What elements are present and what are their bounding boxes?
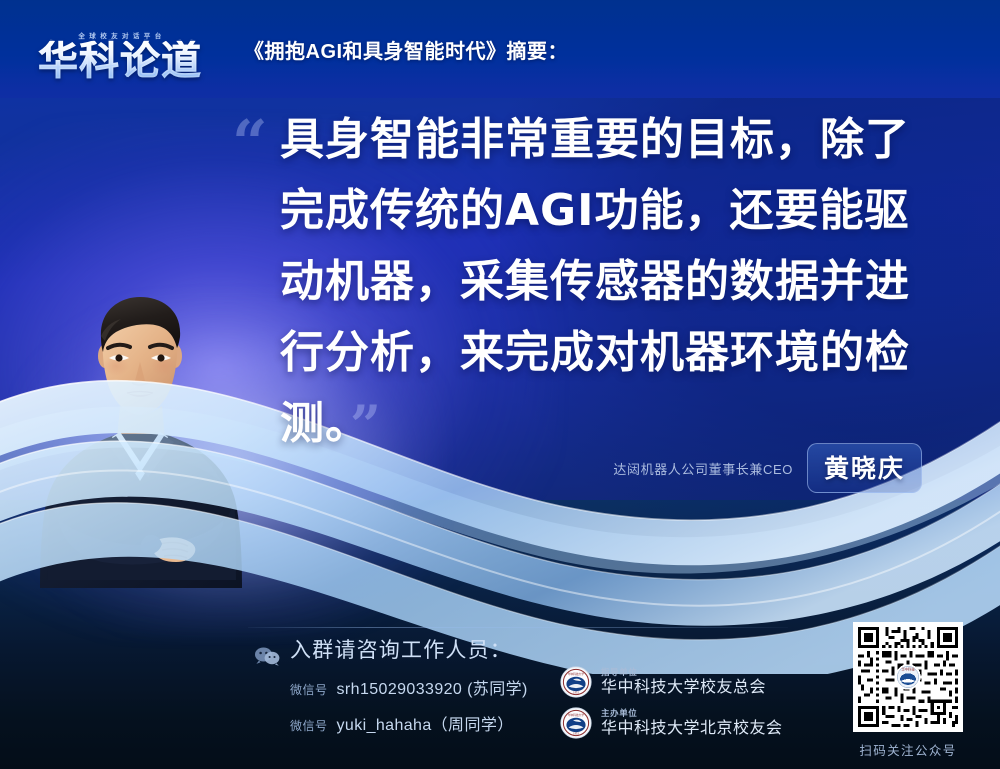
svg-text:1952: 1952 (573, 733, 579, 736)
contact-info: 入群请咨询工作人员： 微信号 srh15029033920 (苏同学) 微信号 … (290, 634, 528, 747)
svg-text:华中科技: 华中科技 (901, 667, 915, 672)
footer-divider (248, 627, 788, 628)
quote-block: “ 具身智能非常重要的目标，除了完成传统的AGI功能，还要能驱动机器，采集传感器… (232, 104, 948, 459)
svg-text:华中科技大学: 华中科技大学 (568, 672, 584, 676)
organization-text: 主办单位 华中科技大学北京校友会 (601, 709, 783, 737)
speaker-name-badge: 黄晓庆 (807, 443, 922, 493)
organization-name: 华中科技大学北京校友会 (601, 721, 783, 737)
organization-name: 华中科技大学校友总会 (601, 680, 766, 696)
university-emblem-icon: 华中科技大学 1952 (560, 707, 592, 739)
contact-row: 微信号 srh15029033920 (苏同学) (290, 675, 528, 699)
quote-close-mark: ” (350, 393, 382, 457)
qr-section: 华中科技 扫码关注公众号 (838, 622, 978, 759)
organizations: 华中科技大学 1952 指导单位 华中科技大学校友总会 华中科技大学 (560, 666, 783, 748)
wechat-label: 微信号 (290, 681, 328, 698)
quote-open-mark: “ (232, 112, 268, 174)
header: 全球校友对话平台 华科论道 《拥抱AGI和具身智能时代》摘要： (0, 0, 1000, 98)
speaker-role: 达闼机器人公司董事长兼CEO (613, 459, 793, 478)
contact-title: 入群请咨询工作人员： (290, 634, 528, 664)
quote-text-container: 具身智能非常重要的目标，除了完成传统的AGI功能，还要能驱动机器，采集传感器的数… (280, 104, 944, 459)
attribution: 达闼机器人公司董事长兼CEO 黄晓庆 (613, 443, 922, 493)
svg-text:1952: 1952 (573, 692, 579, 695)
wechat-id[interactable]: srh15029033920 (苏同学) (337, 675, 528, 699)
university-emblem-icon: 华中科技大学 1952 (560, 666, 592, 698)
speaker-portrait (28, 288, 254, 588)
organization-row: 华中科技大学 1952 主办单位 华中科技大学北京校友会 (560, 707, 783, 739)
contact-row: 微信号 yuki_hahaha（周同学） (290, 711, 528, 735)
wechat-icon (254, 646, 280, 666)
qr-caption: 扫码关注公众号 (838, 740, 978, 759)
qr-code[interactable]: 华中科技 (853, 622, 963, 732)
svg-text:华中科技大学: 华中科技大学 (568, 713, 584, 717)
organization-kind: 主办单位 (601, 709, 783, 718)
organization-row: 华中科技大学 1952 指导单位 华中科技大学校友总会 (560, 666, 783, 698)
page-title: 《拥抱AGI和具身智能时代》摘要： (244, 35, 568, 64)
brand-logo[interactable]: 全球校友对话平台 华科论道 (22, 17, 218, 81)
poster-root: 全球校友对话平台 华科论道 《拥抱AGI和具身智能时代》摘要： “ 具身智能非常… (0, 0, 1000, 769)
wechat-id[interactable]: yuki_hahaha（周同学） (337, 711, 514, 735)
brand-logo-text: 华科论道 (38, 41, 202, 81)
organization-kind: 指导单位 (601, 668, 766, 677)
organization-text: 指导单位 华中科技大学校友总会 (601, 668, 766, 696)
wechat-label: 微信号 (290, 717, 328, 734)
